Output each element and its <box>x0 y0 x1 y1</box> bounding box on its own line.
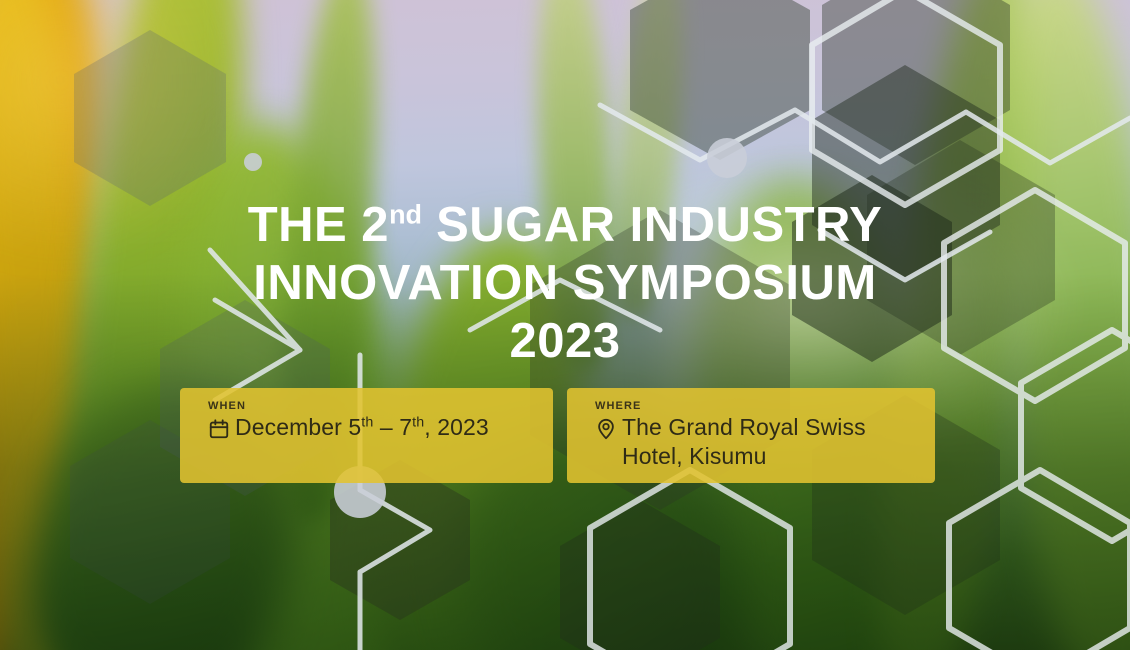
when-card-label: WHEN <box>208 400 553 412</box>
where-card-value: The Grand Royal Swiss Hotel, Kisumu <box>622 413 935 471</box>
event-info-cards: WHEN December 5th – 7th, 2023 WHERE <box>180 388 935 483</box>
title-ordinal-suffix: nd <box>389 200 422 230</box>
when-card-value: December 5th – 7th, 2023 <box>235 413 503 442</box>
when-value-pre: December 5 <box>235 414 361 440</box>
calendar-icon <box>208 418 230 440</box>
when-value-mid: – 7 <box>373 414 412 440</box>
where-card-body: The Grand Royal Swiss Hotel, Kisumu <box>595 413 935 471</box>
title-line-1-pre: THE 2 <box>248 198 389 252</box>
when-value-sup-1: th <box>361 414 373 430</box>
title-line-1: THE 2nd SUGAR INDUSTRY <box>110 196 1020 254</box>
molecule-node <box>707 138 747 178</box>
when-value-post: , 2023 <box>424 414 489 440</box>
title-line-3: 2023 <box>110 312 1020 370</box>
molecule-node <box>244 153 262 171</box>
hexagon-shape <box>560 500 720 650</box>
map-pin-icon <box>595 418 617 440</box>
when-card: WHEN December 5th – 7th, 2023 <box>180 388 553 483</box>
when-value-sup-2: th <box>412 414 424 430</box>
title-line-2: INNOVATION SYMPOSIUM <box>110 254 1020 312</box>
when-card-body: December 5th – 7th, 2023 <box>208 413 553 442</box>
hexagon-shape <box>74 30 226 206</box>
where-card-label: WHERE <box>595 400 935 412</box>
page-title: THE 2nd SUGAR INDUSTRY INNOVATION SYMPOS… <box>0 196 1130 370</box>
event-banner: THE 2nd SUGAR INDUSTRY INNOVATION SYMPOS… <box>0 0 1130 650</box>
where-card: WHERE The Grand Royal Swiss Hotel, Kisum… <box>567 388 935 483</box>
title-line-1-post: SUGAR INDUSTRY <box>422 198 882 252</box>
